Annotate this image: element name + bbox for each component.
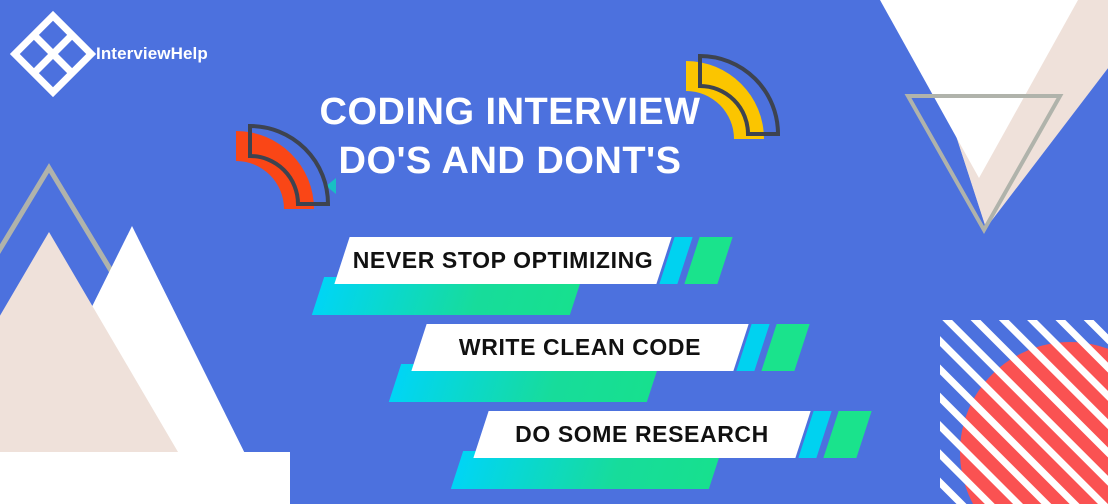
page-title-line-1: CODING INTERVIEW [320,91,701,133]
brand-name: InterviewHelp [96,44,208,64]
brand-logo[interactable]: InterviewHelp [14,14,244,94]
page-title: CODING INTERVIEW DO'S AND DONT'S [300,88,720,185]
circle-diagonal-stripes [940,320,1108,504]
tip-banner-3-label: DO SOME RESEARCH [481,411,803,458]
poster-canvas: InterviewHelp CODING INTERVIEW DO'S AND … [0,0,1108,504]
diamond-cross-icon [14,15,92,93]
tip-banner-1-label: NEVER STOP OPTIMIZING [342,237,664,284]
tip-banner-2-label: WRITE CLEAN CODE [419,324,741,371]
page-title-line-2: DO'S AND DONT'S [300,137,720,186]
